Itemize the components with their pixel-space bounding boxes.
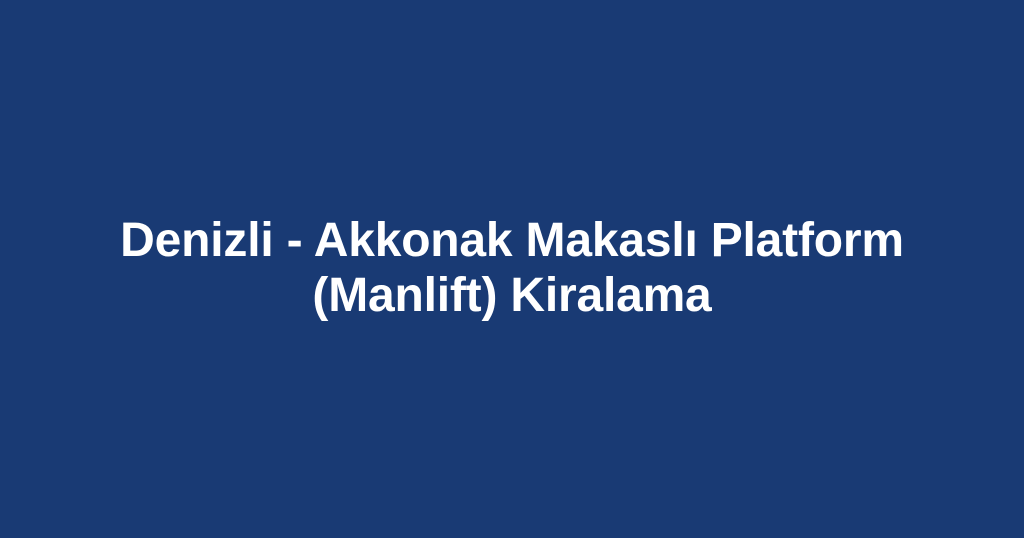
page-title-line-1: Denizli - Akkonak Makaslı Platform [40, 213, 984, 268]
page-banner: Denizli - Akkonak Makaslı Platform (Manl… [0, 0, 1024, 538]
banner-title-block: Denizli - Akkonak Makaslı Platform (Manl… [0, 213, 1024, 323]
page-title-line-2: (Manlift) Kiralama [40, 268, 984, 323]
